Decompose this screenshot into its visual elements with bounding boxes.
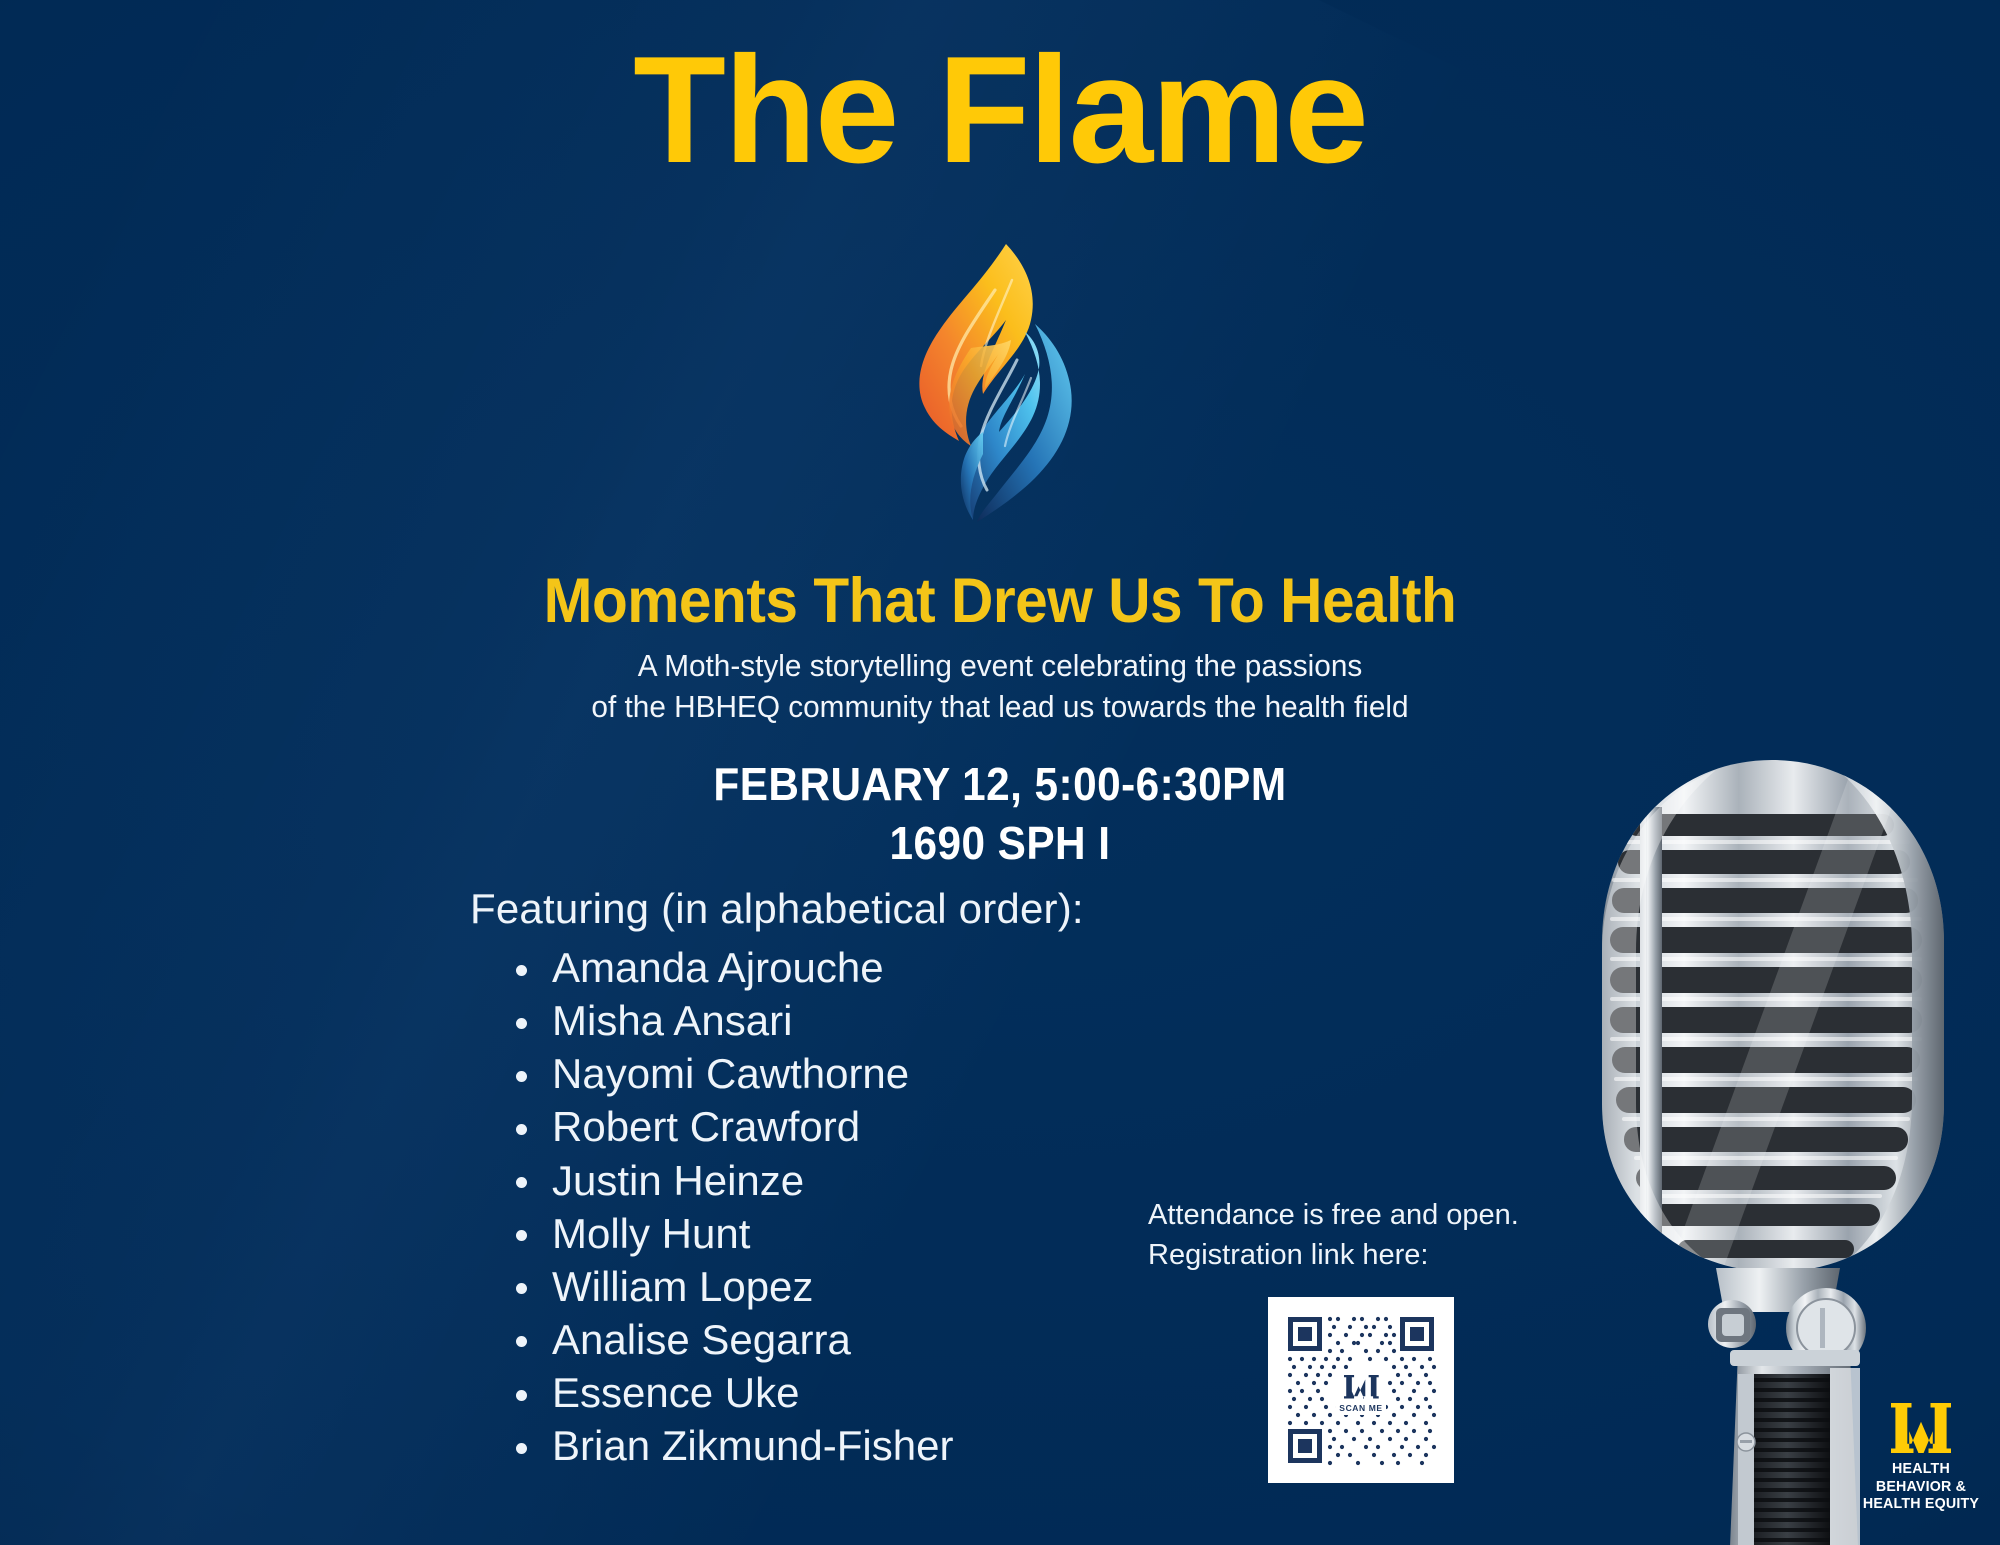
list-item: Robert Crawford	[500, 1100, 1084, 1153]
poster-description: A Moth-style storytelling event celebrat…	[40, 645, 1960, 727]
event-location: 1690 SPH I	[80, 814, 1920, 873]
poster-title: The Flame	[0, 34, 2000, 186]
flame-logo-icon	[875, 228, 1125, 528]
registration-note-line-2: Registration link here:	[1148, 1235, 1519, 1275]
brand-text: HEALTH BEHAVIOR & HEALTH EQUITY	[1860, 1460, 1982, 1513]
registration-note-line-1: Attendance is free and open.	[1148, 1195, 1519, 1235]
event-datetime-location: FEBRUARY 12, 5:00-6:30PM 1690 SPH I	[80, 755, 1920, 873]
featuring-section: Featuring (in alphabetical order): Amand…	[470, 885, 1084, 1472]
qr-scan-me-label: SCAN ME	[1339, 1403, 1382, 1413]
list-item: Nayomi Cawthorne	[500, 1047, 1084, 1100]
list-item: Molly Hunt	[500, 1207, 1084, 1260]
registration-note: Attendance is free and open. Registratio…	[1148, 1195, 1519, 1275]
brand-line-1: HEALTH BEHAVIOR &	[1876, 1460, 1966, 1495]
university-brand-lockup: HEALTH BEHAVIOR & HEALTH EQUITY	[1857, 1403, 1985, 1513]
list-item: Misha Ansari	[500, 994, 1084, 1047]
featuring-heading: Featuring (in alphabetical order):	[470, 885, 1084, 933]
list-item: Brian Zikmund-Fisher	[500, 1419, 1084, 1472]
list-item: Amanda Ajrouche	[500, 941, 1084, 994]
event-poster: The Flame	[0, 0, 2000, 1545]
list-item: Analise Segarra	[500, 1313, 1084, 1366]
registration-qr-code[interactable]: SCAN ME	[1268, 1297, 1454, 1483]
brand-line-2: HEALTH EQUITY	[1863, 1495, 1979, 1512]
description-line-1: A Moth-style storytelling event celebrat…	[40, 645, 1960, 686]
list-item: Essence Uke	[500, 1366, 1084, 1419]
description-line-2: of the HBHEQ community that lead us towa…	[40, 686, 1960, 727]
list-item: Justin Heinze	[500, 1154, 1084, 1207]
speaker-list: Amanda Ajrouche Misha Ansari Nayomi Cawt…	[470, 941, 1084, 1472]
list-item: William Lopez	[500, 1260, 1084, 1313]
event-date-time: FEBRUARY 12, 5:00-6:30PM	[80, 755, 1920, 814]
poster-tagline: Moments That Drew Us To Health	[70, 565, 1930, 637]
michigan-block-m-icon	[1890, 1403, 1952, 1453]
